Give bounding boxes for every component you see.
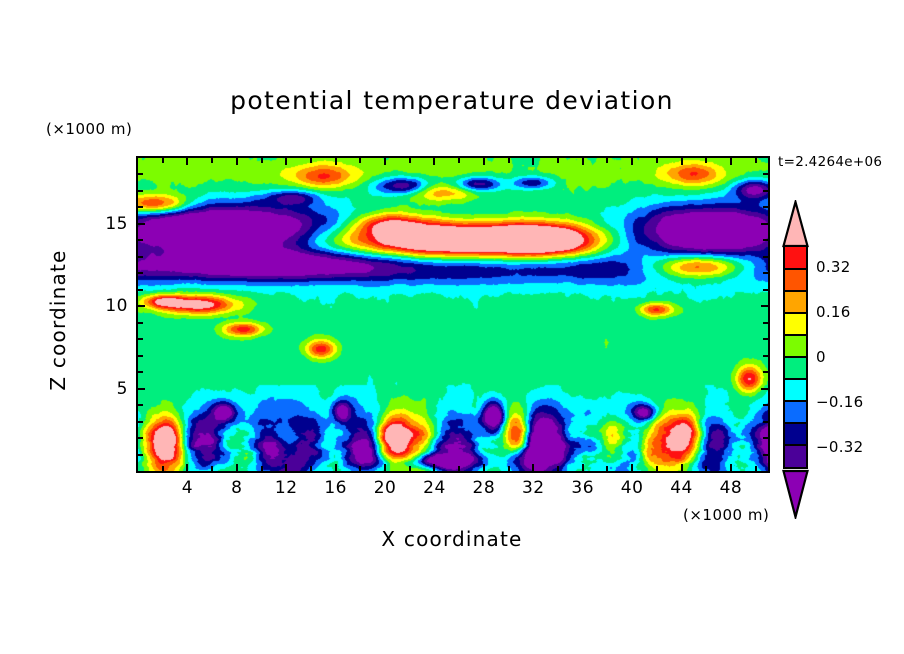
y-tick-mark [761,223,768,225]
z-axis-unit-label: (×1000 m) [46,120,132,138]
x-minor-tick [409,466,411,471]
y-tick-label: 5 [88,379,128,399]
x-tick-mark [483,158,485,165]
colorbar-tick-label: 0 [816,348,826,366]
contour-field-canvas [138,158,768,471]
y-minor-tick [763,322,768,324]
colorbar-divider [785,378,806,380]
x-tick-mark [384,158,386,165]
y-tick-mark [138,223,145,225]
y-minor-tick [763,272,768,274]
colorbar-bands[interactable] [783,245,808,469]
x-minor-tick [557,466,559,471]
y-tick-mark [761,305,768,307]
x-tick-mark [681,464,683,471]
colorbar-band[interactable] [785,379,806,401]
x-tick-mark [433,464,435,471]
colorbar-divider [785,312,806,314]
x-minor-tick [508,158,510,163]
y-minor-tick [138,272,143,274]
colorbar-band[interactable] [785,423,806,445]
x-tick-mark [236,464,238,471]
x-tick-mark [384,464,386,471]
x-tick-mark [483,464,485,471]
y-minor-tick [763,239,768,241]
timestamp-label: t=2.4264e+06 [778,154,882,170]
colorbar-band[interactable] [785,357,806,379]
colorbar-divider [785,268,806,270]
y-minor-tick [763,190,768,192]
x-minor-tick [261,158,263,163]
x-minor-tick [557,158,559,163]
colorbar-band[interactable] [785,335,806,357]
x-tick-label: 32 [522,478,545,498]
x-tick-mark [433,158,435,165]
colorbar-tick-label: 0.16 [816,303,851,321]
y-minor-tick [138,256,143,258]
x-minor-tick [705,466,707,471]
x-tick-label: 24 [423,478,446,498]
y-minor-tick [138,289,143,291]
y-tick-mark [138,388,145,390]
x-tick-mark [532,464,534,471]
x-minor-tick [162,466,164,471]
x-tick-label: 48 [720,478,743,498]
x-tick-label: 36 [571,478,594,498]
x-tick-mark [285,464,287,471]
colorbar-divider [785,290,806,292]
y-minor-tick [138,421,143,423]
colorbar-tick-label: −0.16 [816,393,863,411]
x-minor-tick [705,158,707,163]
y-minor-tick [763,421,768,423]
y-minor-tick [138,239,143,241]
x-minor-tick [359,158,361,163]
y-minor-tick [138,437,143,439]
colorbar-tick-label: −0.32 [816,438,863,456]
y-minor-tick [763,437,768,439]
x-tick-mark [631,464,633,471]
x-tick-mark [335,158,337,165]
z-axis-title: Z coordinate [46,210,70,430]
x-tick-label: 40 [621,478,644,498]
x-tick-mark [186,464,188,471]
y-tick-label: 10 [88,296,128,316]
y-minor-tick [763,404,768,406]
x-minor-tick [755,158,757,163]
x-tick-mark [730,464,732,471]
x-minor-tick [508,466,510,471]
colorbar[interactable]: 0.320.160−0.16−0.32 [778,200,818,520]
colorbar-band[interactable] [785,401,806,423]
x-minor-tick [211,158,213,163]
colorbar-tick-label: 0.32 [816,258,851,276]
x-minor-tick [211,466,213,471]
y-minor-tick [763,206,768,208]
x-tick-mark [186,158,188,165]
colorbar-band[interactable] [785,291,806,313]
x-minor-tick [409,158,411,163]
y-minor-tick [763,338,768,340]
x-tick-mark [730,158,732,165]
y-minor-tick [763,173,768,175]
x-tick-label: 8 [231,478,242,498]
y-minor-tick [138,322,143,324]
x-axis-unit-label: (×1000 m) [683,506,769,524]
colorbar-band[interactable] [785,445,806,467]
y-minor-tick [138,355,143,357]
y-minor-tick [763,454,768,456]
y-tick-mark [138,305,145,307]
colorbar-divider [785,356,806,358]
x-tick-label: 44 [670,478,693,498]
colorbar-divider [785,444,806,446]
colorbar-under-arrow-icon [778,467,818,519]
colorbar-divider [785,422,806,424]
y-minor-tick [763,256,768,258]
colorbar-band[interactable] [785,269,806,291]
x-minor-tick [310,466,312,471]
x-tick-mark [285,158,287,165]
y-minor-tick [763,355,768,357]
y-tick-mark [761,388,768,390]
y-minor-tick [763,289,768,291]
x-axis-title: X coordinate [0,527,904,551]
x-minor-tick [261,466,263,471]
x-tick-label: 28 [473,478,496,498]
colorbar-band[interactable] [785,247,806,269]
x-tick-label: 20 [374,478,397,498]
contour-plot-area[interactable] [136,156,770,473]
x-minor-tick [656,466,658,471]
y-minor-tick [763,371,768,373]
y-minor-tick [138,173,143,175]
x-tick-mark [582,158,584,165]
x-minor-tick [606,466,608,471]
x-tick-mark [236,158,238,165]
x-minor-tick [755,466,757,471]
x-minor-tick [606,158,608,163]
y-minor-tick [138,190,143,192]
page-title: potential temperature deviation [0,86,904,115]
x-minor-tick [310,158,312,163]
x-tick-label: 12 [275,478,298,498]
y-minor-tick [138,371,143,373]
x-tick-mark [681,158,683,165]
x-tick-mark [582,464,584,471]
x-tick-mark [532,158,534,165]
x-minor-tick [458,466,460,471]
y-minor-tick [138,338,143,340]
colorbar-divider [785,334,806,336]
colorbar-divider [785,400,806,402]
x-tick-mark [631,158,633,165]
x-tick-label: 4 [182,478,193,498]
y-tick-label: 15 [88,214,128,234]
colorbar-over-arrow-icon [778,200,818,250]
x-minor-tick [458,158,460,163]
x-minor-tick [162,158,164,163]
x-minor-tick [656,158,658,163]
x-tick-label: 16 [324,478,347,498]
y-minor-tick [138,454,143,456]
x-minor-tick [359,466,361,471]
y-minor-tick [138,404,143,406]
x-tick-mark [335,464,337,471]
y-minor-tick [138,206,143,208]
colorbar-band[interactable] [785,313,806,335]
